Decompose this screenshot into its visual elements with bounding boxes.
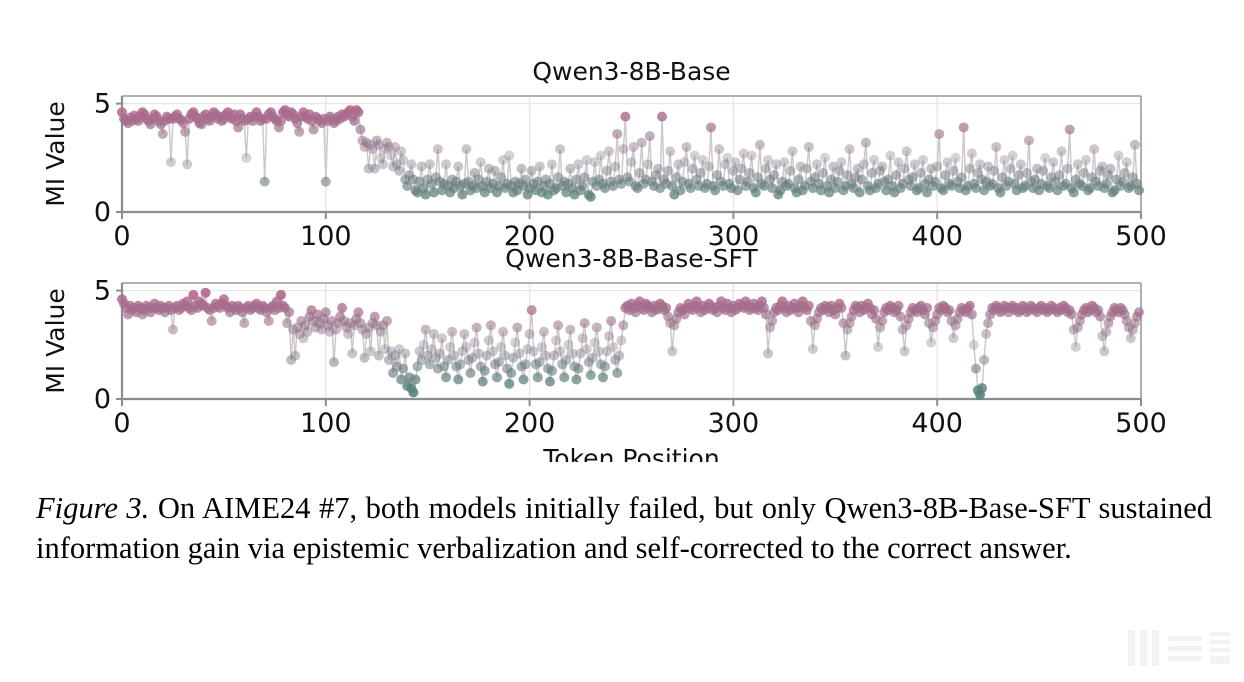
data-point <box>769 170 779 180</box>
data-point <box>934 129 944 139</box>
data-point <box>957 172 967 182</box>
data-point <box>496 342 506 352</box>
ytick-label-5: 5 <box>94 276 111 307</box>
xtick-label-100: 100 <box>300 408 352 439</box>
data-point <box>447 327 457 337</box>
data-point <box>1054 170 1064 180</box>
data-point <box>612 368 622 378</box>
data-point <box>264 316 274 326</box>
data-point <box>604 331 614 341</box>
data-point <box>1134 185 1144 195</box>
data-point <box>547 159 557 169</box>
ytick-label-0: 0 <box>94 197 111 228</box>
figure-caption-text: On AIME24 #7, both models initially fail… <box>36 491 1212 565</box>
data-point <box>1057 146 1067 156</box>
data-point <box>453 374 463 384</box>
data-point <box>1089 144 1099 154</box>
xtick-label-500: 500 <box>1115 221 1167 252</box>
data-point <box>1063 164 1073 174</box>
data-point <box>965 301 975 311</box>
data-point <box>565 325 575 335</box>
data-point <box>808 344 818 354</box>
data-point <box>406 159 416 169</box>
data-point <box>614 351 624 361</box>
data-point <box>869 155 879 165</box>
data-point <box>663 166 673 176</box>
data-point <box>604 146 614 156</box>
data-point <box>971 364 981 374</box>
data-point <box>1065 125 1075 135</box>
data-point <box>859 159 869 169</box>
series-points-2 <box>117 288 1144 400</box>
data-point <box>398 364 408 374</box>
data-point <box>714 144 724 154</box>
data-point <box>918 155 928 165</box>
data-point <box>959 122 969 132</box>
data-point <box>355 125 365 135</box>
data-point <box>1024 135 1034 145</box>
data-point <box>553 320 563 330</box>
data-point <box>466 368 476 378</box>
data-point <box>618 144 628 154</box>
data-point <box>979 355 989 365</box>
data-point <box>926 338 936 348</box>
data-point <box>260 177 270 187</box>
data-point <box>1022 168 1032 178</box>
figure-3-root: Qwen3-8B-Base050100200300400500MI ValueQ… <box>0 0 1244 682</box>
data-point <box>665 146 675 156</box>
data-point <box>802 164 812 174</box>
data-point <box>166 157 176 167</box>
data-point <box>969 340 979 350</box>
data-point <box>592 322 602 332</box>
data-point <box>321 177 331 187</box>
data-point <box>944 305 954 315</box>
data-point <box>1038 166 1048 176</box>
data-point <box>900 346 910 356</box>
data-point <box>1071 342 1081 352</box>
xtick-label-200: 200 <box>504 408 556 439</box>
data-point <box>1114 151 1124 161</box>
data-point <box>893 301 903 311</box>
data-point <box>991 142 1001 152</box>
data-point <box>239 318 249 328</box>
watermark-logo <box>1124 622 1236 674</box>
data-point <box>284 307 294 317</box>
data-point <box>441 372 451 382</box>
data-point <box>437 333 447 343</box>
figure-plot-area: Qwen3-8B-Base050100200300400500MI ValueQ… <box>0 0 1244 462</box>
data-point <box>586 192 596 202</box>
data-point <box>1101 327 1111 337</box>
data-point <box>704 161 714 171</box>
data-point <box>349 116 359 126</box>
data-point <box>1095 312 1105 322</box>
data-point <box>610 161 620 171</box>
data-point <box>885 151 895 161</box>
multi-panel-scatter-figure: Qwen3-8B-Base050100200300400500MI ValueQ… <box>0 0 1244 462</box>
data-point <box>586 370 596 380</box>
data-point <box>480 366 490 376</box>
data-point <box>276 290 286 300</box>
xtick-label-400: 400 <box>911 221 963 252</box>
data-point <box>627 157 637 167</box>
data-point <box>989 166 999 176</box>
data-point <box>606 316 616 326</box>
data-point <box>533 372 543 382</box>
xlabel-2: Token Position <box>542 444 719 462</box>
data-point <box>578 333 588 343</box>
data-point <box>290 351 300 361</box>
data-point <box>486 320 496 330</box>
data-point <box>661 303 671 313</box>
data-point <box>512 322 522 332</box>
data-point <box>804 301 814 311</box>
data-point <box>408 388 418 398</box>
xtick-label-0: 0 <box>113 221 130 252</box>
data-point <box>478 377 488 387</box>
ytick-label-5: 5 <box>94 89 111 120</box>
data-point <box>812 159 822 169</box>
data-point <box>510 338 520 348</box>
data-point <box>555 346 565 356</box>
data-point <box>484 335 494 345</box>
data-point <box>518 374 528 384</box>
data-point <box>861 138 871 148</box>
chart-panel-1: Qwen3-8B-Base050100200300400500MI Value <box>41 57 1167 252</box>
data-point <box>951 153 961 163</box>
data-point <box>949 166 959 176</box>
data-point <box>869 305 879 315</box>
data-point <box>470 338 480 348</box>
data-point <box>788 146 798 156</box>
data-point <box>679 157 689 167</box>
data-point <box>949 333 959 343</box>
series-points-1 <box>117 105 1144 202</box>
figure-caption: Figure 3. On AIME24 #7, both models init… <box>36 488 1212 569</box>
data-point <box>877 161 887 171</box>
data-point <box>525 329 535 339</box>
data-point <box>180 127 190 137</box>
data-point <box>158 129 168 139</box>
data-point <box>1008 151 1018 161</box>
data-point <box>241 153 251 163</box>
data-point <box>836 303 846 313</box>
data-point <box>1099 346 1109 356</box>
data-point <box>600 361 610 371</box>
data-point <box>516 164 526 174</box>
data-point <box>551 335 561 345</box>
data-point <box>645 131 655 141</box>
chart-panel-2: Qwen3-8B-Base-SFT050100200300400500MI Va… <box>41 244 1167 462</box>
data-point <box>545 377 555 387</box>
data-point <box>461 144 471 154</box>
figure-caption-label: Figure 3. <box>36 491 149 525</box>
data-point <box>916 168 926 178</box>
data-point <box>618 320 628 330</box>
data-point <box>394 166 404 176</box>
data-point <box>294 127 304 137</box>
data-point <box>643 159 653 169</box>
data-point <box>400 348 410 358</box>
data-point <box>201 288 211 298</box>
data-point <box>182 159 192 169</box>
data-point <box>608 342 618 352</box>
data-point <box>459 329 469 339</box>
data-point <box>1067 309 1077 319</box>
data-point <box>521 359 531 369</box>
data-point <box>1006 164 1016 174</box>
data-point <box>836 157 846 167</box>
data-point <box>932 161 942 171</box>
ylabel-1: MI Value <box>41 101 70 207</box>
data-point <box>445 342 455 352</box>
data-point <box>353 107 363 117</box>
data-point <box>1016 159 1026 169</box>
data-point <box>321 307 331 317</box>
xtick-label-500: 500 <box>1115 408 1167 439</box>
data-point <box>637 138 647 148</box>
xtick-label-400: 400 <box>911 408 963 439</box>
data-point <box>492 372 502 382</box>
data-point <box>761 164 771 174</box>
data-point <box>902 146 912 156</box>
data-point <box>900 164 910 174</box>
data-point <box>877 316 887 326</box>
data-point <box>559 372 569 382</box>
data-point <box>1122 157 1132 167</box>
data-point <box>504 151 514 161</box>
data-point <box>855 187 865 197</box>
data-point <box>657 112 667 122</box>
data-point <box>555 144 565 154</box>
data-point <box>1081 155 1091 165</box>
data-point <box>207 316 217 326</box>
data-point <box>309 125 319 135</box>
data-point <box>1069 187 1079 197</box>
xtick-label-100: 100 <box>300 221 352 252</box>
data-point <box>353 307 363 317</box>
data-point <box>168 325 178 335</box>
data-point <box>441 159 451 169</box>
data-point <box>472 322 482 332</box>
data-point <box>598 372 608 382</box>
data-point <box>574 364 584 374</box>
data-point <box>682 142 692 152</box>
data-point <box>382 316 392 326</box>
data-point <box>504 379 514 389</box>
data-point <box>386 151 396 161</box>
data-point <box>967 148 977 158</box>
data-point <box>840 351 850 361</box>
data-point <box>922 303 932 313</box>
data-point <box>396 146 406 156</box>
data-point <box>535 161 545 171</box>
data-point <box>1048 157 1058 167</box>
data-point <box>476 157 486 167</box>
data-point <box>981 329 991 339</box>
data-point <box>582 344 592 354</box>
data-point <box>767 316 777 326</box>
data-point <box>1126 333 1136 343</box>
data-point <box>1101 179 1111 189</box>
data-point <box>763 348 773 358</box>
data-point <box>755 140 765 150</box>
data-point <box>433 144 443 154</box>
data-point <box>653 164 663 174</box>
data-point <box>571 374 581 384</box>
data-point <box>779 157 789 167</box>
data-point <box>667 346 677 356</box>
data-point <box>967 309 977 319</box>
data-point <box>453 161 463 171</box>
data-point <box>378 159 388 169</box>
panel-title-1: Qwen3-8B-Base <box>532 57 730 86</box>
data-point <box>706 122 716 132</box>
data-point <box>696 168 706 178</box>
data-point <box>435 348 445 358</box>
data-point <box>563 340 573 350</box>
data-point <box>1105 164 1115 174</box>
data-point <box>370 312 380 322</box>
data-point <box>506 368 516 378</box>
data-point <box>612 129 622 139</box>
xtick-label-300: 300 <box>708 408 760 439</box>
data-point <box>1134 307 1144 317</box>
data-point <box>804 142 814 152</box>
data-point <box>747 151 757 161</box>
data-point <box>590 338 600 348</box>
data-point <box>845 144 855 154</box>
data-point <box>785 166 795 176</box>
data-point <box>977 383 987 393</box>
data-point <box>891 170 901 180</box>
data-point <box>527 305 537 315</box>
data-point <box>983 318 993 328</box>
xtick-label-0: 0 <box>113 408 130 439</box>
data-point <box>539 327 549 337</box>
data-point <box>329 357 339 367</box>
data-point <box>873 342 883 352</box>
data-point <box>580 318 590 328</box>
data-point <box>616 335 626 345</box>
data-point <box>337 303 347 313</box>
ylabel-2: MI Value <box>41 288 70 394</box>
data-point <box>818 168 828 178</box>
data-point <box>343 329 353 339</box>
data-point <box>425 159 435 169</box>
ytick-label-0: 0 <box>94 384 111 415</box>
data-point <box>410 374 420 384</box>
data-point <box>675 185 685 195</box>
data-point <box>347 348 357 358</box>
data-point <box>498 327 508 337</box>
data-point <box>820 153 830 163</box>
panel-title-2: Qwen3-8B-Base-SFT <box>505 244 758 273</box>
data-point <box>537 342 547 352</box>
data-point <box>547 366 557 376</box>
data-point <box>1130 140 1140 150</box>
data-point <box>620 112 630 122</box>
data-point <box>578 181 588 191</box>
data-point <box>751 187 761 197</box>
